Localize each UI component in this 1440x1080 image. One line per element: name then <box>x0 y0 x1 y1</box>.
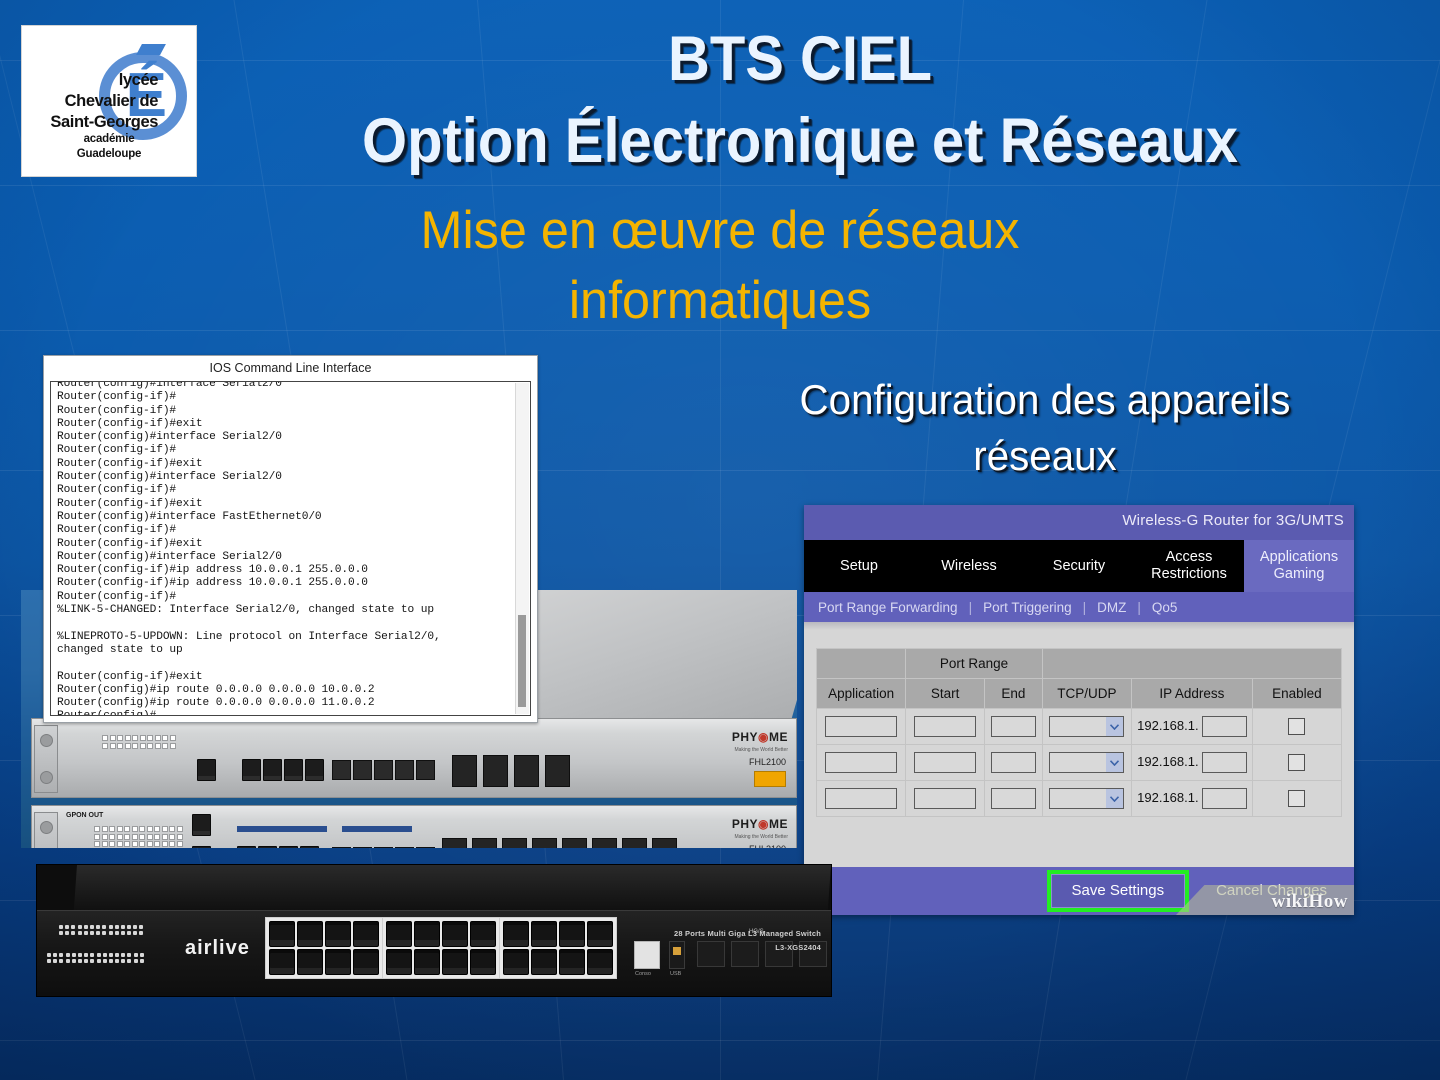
switch-description: 28 Ports Multi Giga L3 Managed Switch <box>674 927 821 941</box>
panel-divider <box>804 622 1354 630</box>
tab-security[interactable]: Security <box>1024 540 1134 592</box>
status-led-grid <box>94 826 183 847</box>
indicator-bar <box>342 826 412 832</box>
rj45-port-row <box>197 759 216 781</box>
table-header-row: Application Start End TCP/UDP IP Address… <box>817 679 1342 709</box>
switch-led-grid <box>47 953 144 963</box>
device-tagline: Making the World Better <box>732 831 788 844</box>
table-group-header-row: Port Range <box>817 649 1342 679</box>
header-port-range: Port Range <box>906 649 1043 679</box>
grid-latitude-line <box>0 185 1440 186</box>
switch-model-number: L3-XGS2404 <box>674 941 821 955</box>
protocol-select[interactable] <box>1049 716 1124 737</box>
device-model-label: FHL2100 <box>749 757 786 767</box>
port-start-input[interactable] <box>914 788 976 809</box>
port-forwarding-table: Port Range Application Start End TCP/UDP… <box>816 648 1342 817</box>
ios-cli-window: IOS Command Line Interface Router(config… <box>43 355 538 723</box>
table-row: 192.168.1. <box>817 709 1342 745</box>
ios-cli-output: Router(config)#interface Serial2/0 Route… <box>57 381 510 716</box>
rj45-port-row <box>192 846 211 848</box>
switch-model-block: 28 Ports Multi Giga L3 Managed Switch L3… <box>674 927 821 955</box>
protocol-select[interactable] <box>1049 752 1124 773</box>
usb-label: USB <box>670 971 681 977</box>
indicator-bar <box>237 826 327 832</box>
logo-region: Guadeloupe <box>22 147 196 162</box>
rj45-port-bank <box>382 917 500 979</box>
port-end-input[interactable] <box>991 716 1036 737</box>
header-ip-address: IP Address <box>1132 679 1253 709</box>
device-brand-label: PHY◉MEMaking the World Better <box>732 818 788 844</box>
console-label: Conso <box>635 971 651 977</box>
rj45-port-row <box>242 759 324 781</box>
application-input[interactable] <box>825 716 897 737</box>
rj45-port-bank <box>499 917 617 979</box>
tab-wireless[interactable]: Wireless <box>914 540 1024 592</box>
application-input[interactable] <box>825 752 897 773</box>
rj45-port-row <box>237 846 319 848</box>
device-amber-led <box>754 771 786 787</box>
header-enabled: Enabled <box>1252 679 1341 709</box>
device-brand-label: PHY◉MEMaking the World Better <box>732 731 788 757</box>
switch-led-grid <box>59 925 143 935</box>
status-led-grid <box>102 735 176 749</box>
router-header: Wireless-G Router for 3G/UMTS <box>804 505 1354 540</box>
rj45-port-row <box>192 814 211 836</box>
router-model-title: Wireless-G Router for 3G/UMTS <box>1122 512 1344 529</box>
switch-photo: airlive HG/S Conso USB 28 Port <box>36 864 832 997</box>
grid-latitude-line <box>0 1040 1440 1041</box>
page-title: BTS CIEL Option Électronique et Réseaux <box>257 18 1343 182</box>
ios-cli-title: IOS Command Line Interface <box>44 356 537 380</box>
subnav-dmz[interactable]: DMZ <box>1097 600 1126 615</box>
rj45-port-bank <box>265 917 383 979</box>
scrollbar-thumb[interactable] <box>518 615 526 707</box>
console-port <box>634 941 660 969</box>
port-start-input[interactable] <box>914 716 976 737</box>
wikihow-watermark: wikiHow <box>1272 891 1348 913</box>
subnav-separator: | <box>969 600 973 615</box>
device-model-label: FHL2100 <box>749 844 786 848</box>
sfp-port-row <box>332 760 435 780</box>
sfp-uplink-row <box>442 838 677 848</box>
switch-front-panel: airlive HG/S Conso USB 28 Port <box>37 910 831 996</box>
page-subtitle: Mise en œuvre de réseaux informatiques <box>226 196 1214 336</box>
switch-chassis-top <box>74 865 831 911</box>
header-end: End <box>985 679 1043 709</box>
school-logo: É lycée Chevalier de Saint-Georges acadé… <box>21 25 197 177</box>
header-blank <box>817 649 906 679</box>
slide-canvas: É lycée Chevalier de Saint-Georges acadé… <box>0 0 1440 1080</box>
router-subnav: Port Range Forwarding | Port Triggering … <box>804 592 1354 622</box>
port-end-input[interactable] <box>991 752 1036 773</box>
enabled-checkbox[interactable] <box>1288 718 1305 735</box>
protocol-select[interactable] <box>1049 788 1124 809</box>
table-row: 192.168.1. <box>817 781 1342 817</box>
ios-cli-body: Router(config)#interface Serial2/0 Route… <box>50 381 531 716</box>
router-admin-panel: Wireless-G Router for 3G/UMTS Setup Wire… <box>804 505 1354 915</box>
gpon-out-label: GPON OUT <box>66 812 103 819</box>
subnav-port-range-forwarding[interactable]: Port Range Forwarding <box>818 600 958 615</box>
port-start-input[interactable] <box>914 752 976 773</box>
application-input[interactable] <box>825 788 897 809</box>
chevron-down-icon <box>1106 753 1123 772</box>
switch-brand-logo: airlive <box>185 937 250 960</box>
header-start: Start <box>906 679 985 709</box>
logo-academy: académie <box>22 132 196 147</box>
header-application: Application <box>817 679 906 709</box>
router-footer: Save Settings Cancel Changes wikiHow <box>804 867 1354 915</box>
save-settings-highlight: Save Settings <box>1047 870 1190 912</box>
logo-line-2: Chevalier de <box>30 91 158 112</box>
chevron-down-icon <box>1106 717 1123 736</box>
subnav-port-triggering[interactable]: Port Triggering <box>983 600 1072 615</box>
logo-line-3: Saint-Georges <box>30 112 158 133</box>
ip-prefix-label: 192.168.1. <box>1137 790 1198 805</box>
router-content: Port Range Application Start End TCP/UDP… <box>804 630 1354 817</box>
enabled-checkbox[interactable] <box>1288 754 1305 771</box>
save-settings-button[interactable]: Save Settings <box>1051 874 1186 908</box>
header-tcp-udp: TCP/UDP <box>1042 679 1131 709</box>
enabled-checkbox[interactable] <box>1288 790 1305 807</box>
port-end-input[interactable] <box>991 788 1036 809</box>
table-row: 192.168.1. <box>817 745 1342 781</box>
device-row-1: PHY◉MEMaking the World Better FHL2100 <box>31 718 797 798</box>
tab-setup[interactable]: Setup <box>804 540 914 592</box>
router-tab-bar: Setup Wireless Security Access Restricti… <box>804 540 1354 592</box>
logo-accent-icon <box>136 44 166 55</box>
subnav-separator: | <box>1137 600 1141 615</box>
chevron-down-icon <box>1106 789 1123 808</box>
subnav-separator: | <box>1083 600 1087 615</box>
ios-cli-scrollbar[interactable] <box>515 383 529 714</box>
device-tagline: Making the World Better <box>732 744 788 757</box>
ip-suffix-input[interactable] <box>1202 752 1247 773</box>
subnav-qos[interactable]: Qo5 <box>1152 600 1178 615</box>
ip-suffix-input[interactable] <box>1202 788 1247 809</box>
rack-ear-left <box>34 812 58 848</box>
tab-access-restrictions[interactable]: Access Restrictions <box>1134 540 1244 592</box>
caption-configuration: Configuration des appareils réseaux <box>714 372 1376 484</box>
ip-suffix-input[interactable] <box>1202 716 1247 737</box>
ip-prefix-label: 192.168.1. <box>1137 718 1198 733</box>
rack-ear-left <box>34 725 58 793</box>
sfp-uplink-row <box>452 755 570 787</box>
header-blank <box>1042 649 1341 679</box>
device-row-2: GPON OUT <box>31 805 797 848</box>
logo-line-1: lycée <box>30 70 158 91</box>
sfp-port-row <box>332 847 435 848</box>
ip-prefix-label: 192.168.1. <box>1137 754 1198 769</box>
tab-applications-gaming[interactable]: Applications Gaming <box>1244 540 1354 592</box>
